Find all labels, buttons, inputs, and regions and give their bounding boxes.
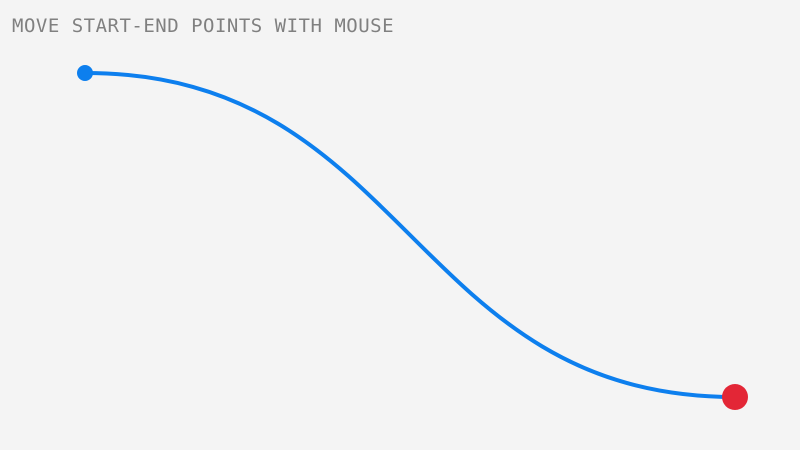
- page-title: MOVE START-END POINTS WITH MOUSE: [12, 14, 394, 38]
- end-point-handle[interactable]: [722, 384, 748, 410]
- bezier-curve-canvas[interactable]: [0, 0, 800, 450]
- app-root: MOVE START-END POINTS WITH MOUSE: [0, 0, 800, 450]
- start-point-handle[interactable]: [77, 65, 93, 81]
- curve-svg-surface[interactable]: [0, 0, 800, 450]
